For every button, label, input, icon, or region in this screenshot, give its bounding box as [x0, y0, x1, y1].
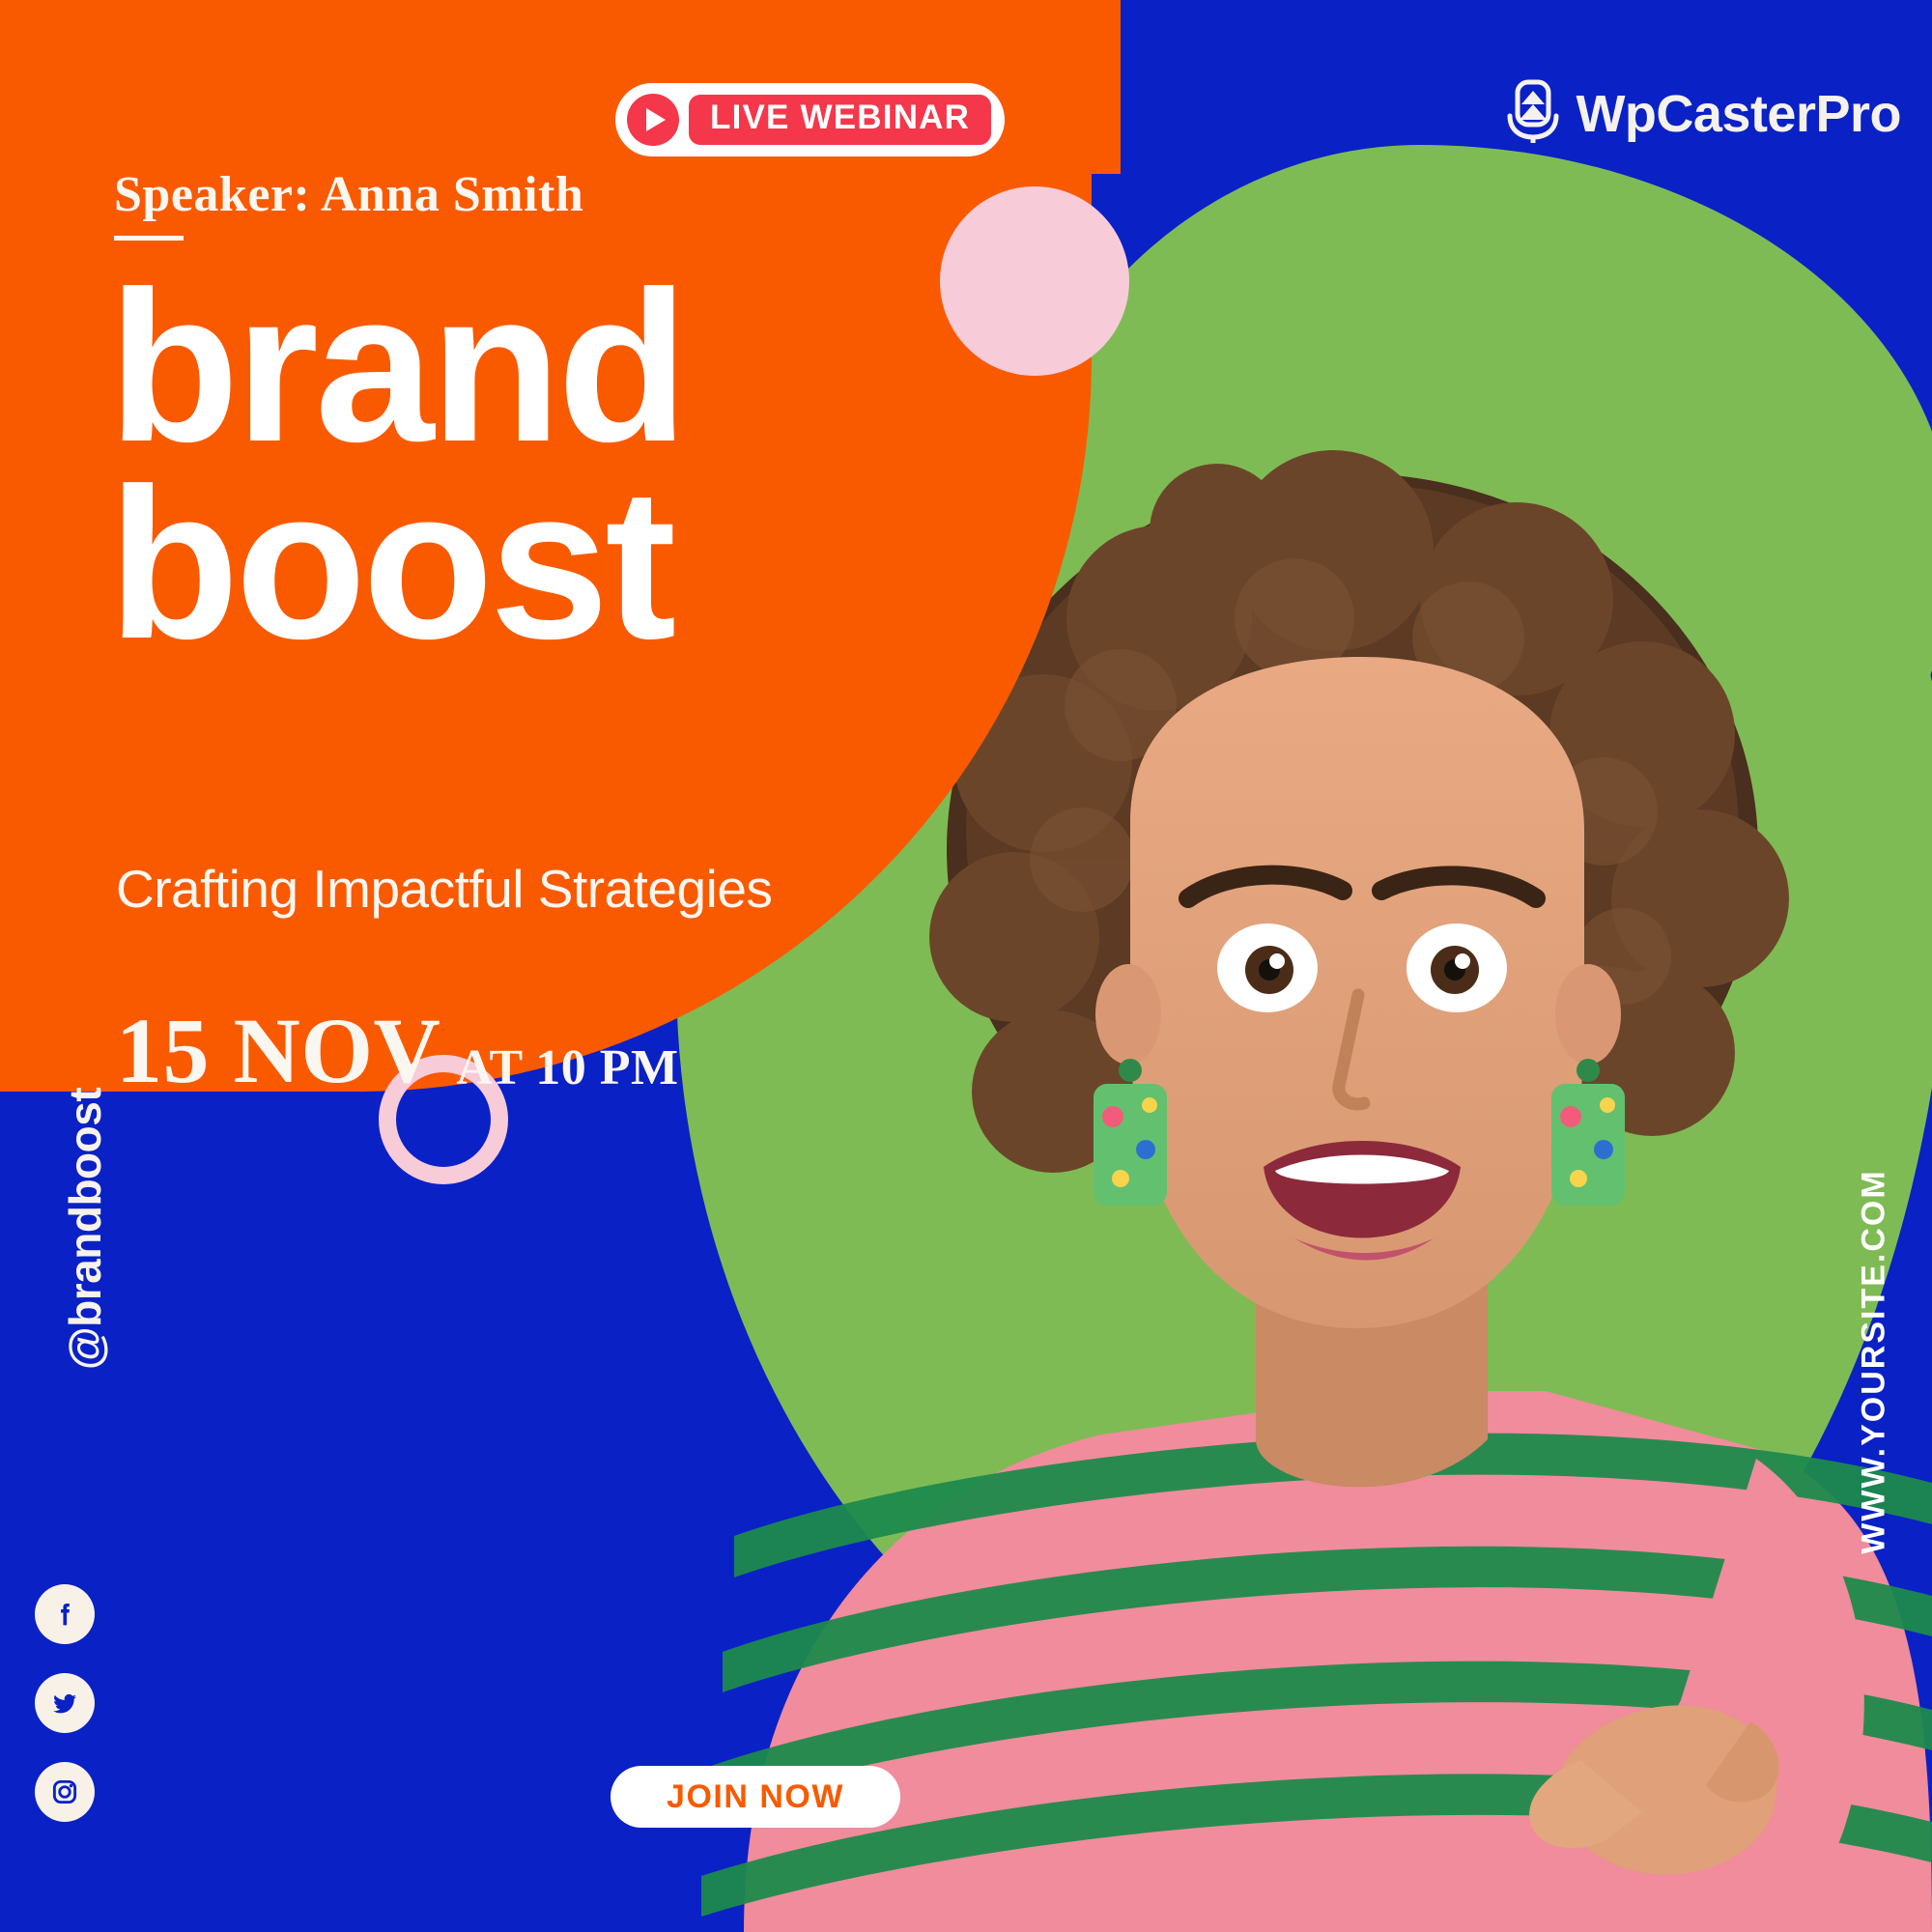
- logo-text: WpCasterPro: [1576, 84, 1901, 144]
- instagram-icon[interactable]: [35, 1762, 95, 1822]
- event-time-wrap: AT 10 PM: [454, 1043, 678, 1097]
- live-webinar-label: LIVE WEBINAR: [689, 95, 991, 145]
- social-handle: @brandboost: [59, 1084, 111, 1374]
- event-time: AT 10 PM: [456, 1040, 678, 1095]
- headline-line-1: brand: [108, 269, 685, 466]
- live-webinar-badge[interactable]: LIVE WEBINAR: [615, 83, 1005, 156]
- webinar-poster: LIVE WEBINAR WpCasterPro Speaker: Anna S…: [0, 0, 1932, 1932]
- social-links: [35, 1584, 95, 1822]
- page-title: brand boost: [108, 269, 685, 663]
- subtitle: Crafting Impactful Strategies: [116, 858, 772, 920]
- facebook-icon[interactable]: [35, 1584, 95, 1644]
- speaker-underline: [114, 236, 184, 241]
- pink-circle-decoration: [940, 186, 1129, 376]
- event-date: 15 NOV: [116, 1005, 440, 1097]
- twitter-icon[interactable]: [35, 1673, 95, 1733]
- event-date-row: 15 NOV AT 10 PM: [116, 1005, 679, 1097]
- website-url: WWW.YOURSITE.COM: [1856, 1159, 1893, 1565]
- microphone-icon: [1504, 79, 1562, 148]
- play-icon: [627, 94, 679, 146]
- speaker-name: Speaker: Anna Smith: [114, 166, 583, 223]
- join-now-button[interactable]: JOIN NOW: [611, 1766, 900, 1828]
- brand-logo[interactable]: WpCasterPro: [1504, 79, 1901, 148]
- headline-line-2: boost: [108, 466, 685, 663]
